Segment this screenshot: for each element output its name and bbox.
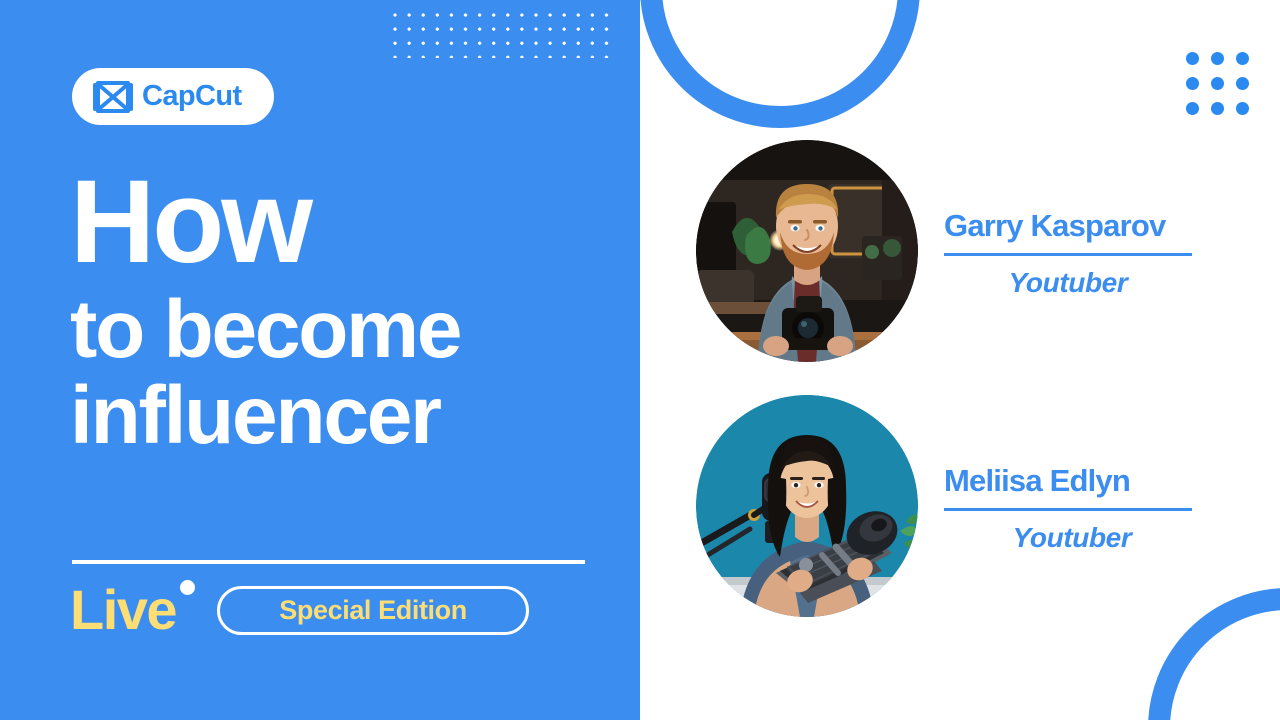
special-edition-label: Special Edition bbox=[279, 597, 467, 624]
headline-line-3: influencer bbox=[70, 373, 630, 460]
speaker-info: Meliisa Edlyn Youtuber bbox=[944, 460, 1192, 551]
speaker-role: Youtuber bbox=[944, 269, 1192, 297]
capcut-logo[interactable]: CapCut bbox=[72, 68, 274, 125]
grid-dot bbox=[1211, 102, 1224, 115]
headline-line-2: to become bbox=[70, 287, 630, 374]
speaker-name: Garry Kasparov bbox=[944, 209, 1192, 243]
live-indicator-dot-icon bbox=[180, 580, 195, 595]
grid-dot bbox=[1211, 52, 1224, 65]
grid-dot bbox=[1236, 77, 1249, 90]
speaker-name-divider bbox=[944, 253, 1192, 256]
live-label: Live bbox=[70, 582, 176, 638]
speaker-name-divider bbox=[944, 508, 1192, 511]
capcut-logo-text: CapCut bbox=[142, 82, 242, 111]
speaker-card-2: Meliisa Edlyn Youtuber bbox=[696, 395, 1192, 617]
speaker-role: Youtuber bbox=[944, 524, 1192, 552]
speaker-photo-garry-kasparov bbox=[696, 140, 918, 362]
speaker-info: Garry Kasparov Youtuber bbox=[944, 205, 1192, 296]
grid-dot bbox=[1236, 52, 1249, 65]
white-dot-grid-icon bbox=[388, 8, 616, 58]
grid-dot bbox=[1186, 52, 1199, 65]
headline-line-1: How bbox=[70, 168, 630, 277]
speaker-name: Meliisa Edlyn bbox=[944, 464, 1192, 498]
special-edition-button[interactable]: Special Edition bbox=[217, 586, 529, 635]
speaker-card-1: Garry Kasparov Youtuber bbox=[696, 140, 1192, 362]
grid-dot bbox=[1186, 77, 1199, 90]
avatar bbox=[696, 395, 918, 617]
grid-dot bbox=[1186, 102, 1199, 115]
live-badge-row: Live Special Edition bbox=[70, 580, 529, 640]
avatar bbox=[696, 140, 918, 362]
headline-divider bbox=[72, 560, 585, 564]
left-blue-panel: CapCut How to become influencer Live Spe… bbox=[0, 0, 640, 720]
speaker-photo-meliisa-edlyn bbox=[696, 395, 918, 617]
live-badge: Live bbox=[70, 582, 176, 638]
capcut-bowtie-icon bbox=[93, 80, 133, 114]
blue-dot-grid-icon bbox=[1186, 52, 1249, 115]
page-title: How to become influencer bbox=[70, 168, 630, 460]
banner-canvas: CapCut How to become influencer Live Spe… bbox=[0, 0, 1280, 720]
grid-dot bbox=[1236, 102, 1249, 115]
grid-dot bbox=[1211, 77, 1224, 90]
